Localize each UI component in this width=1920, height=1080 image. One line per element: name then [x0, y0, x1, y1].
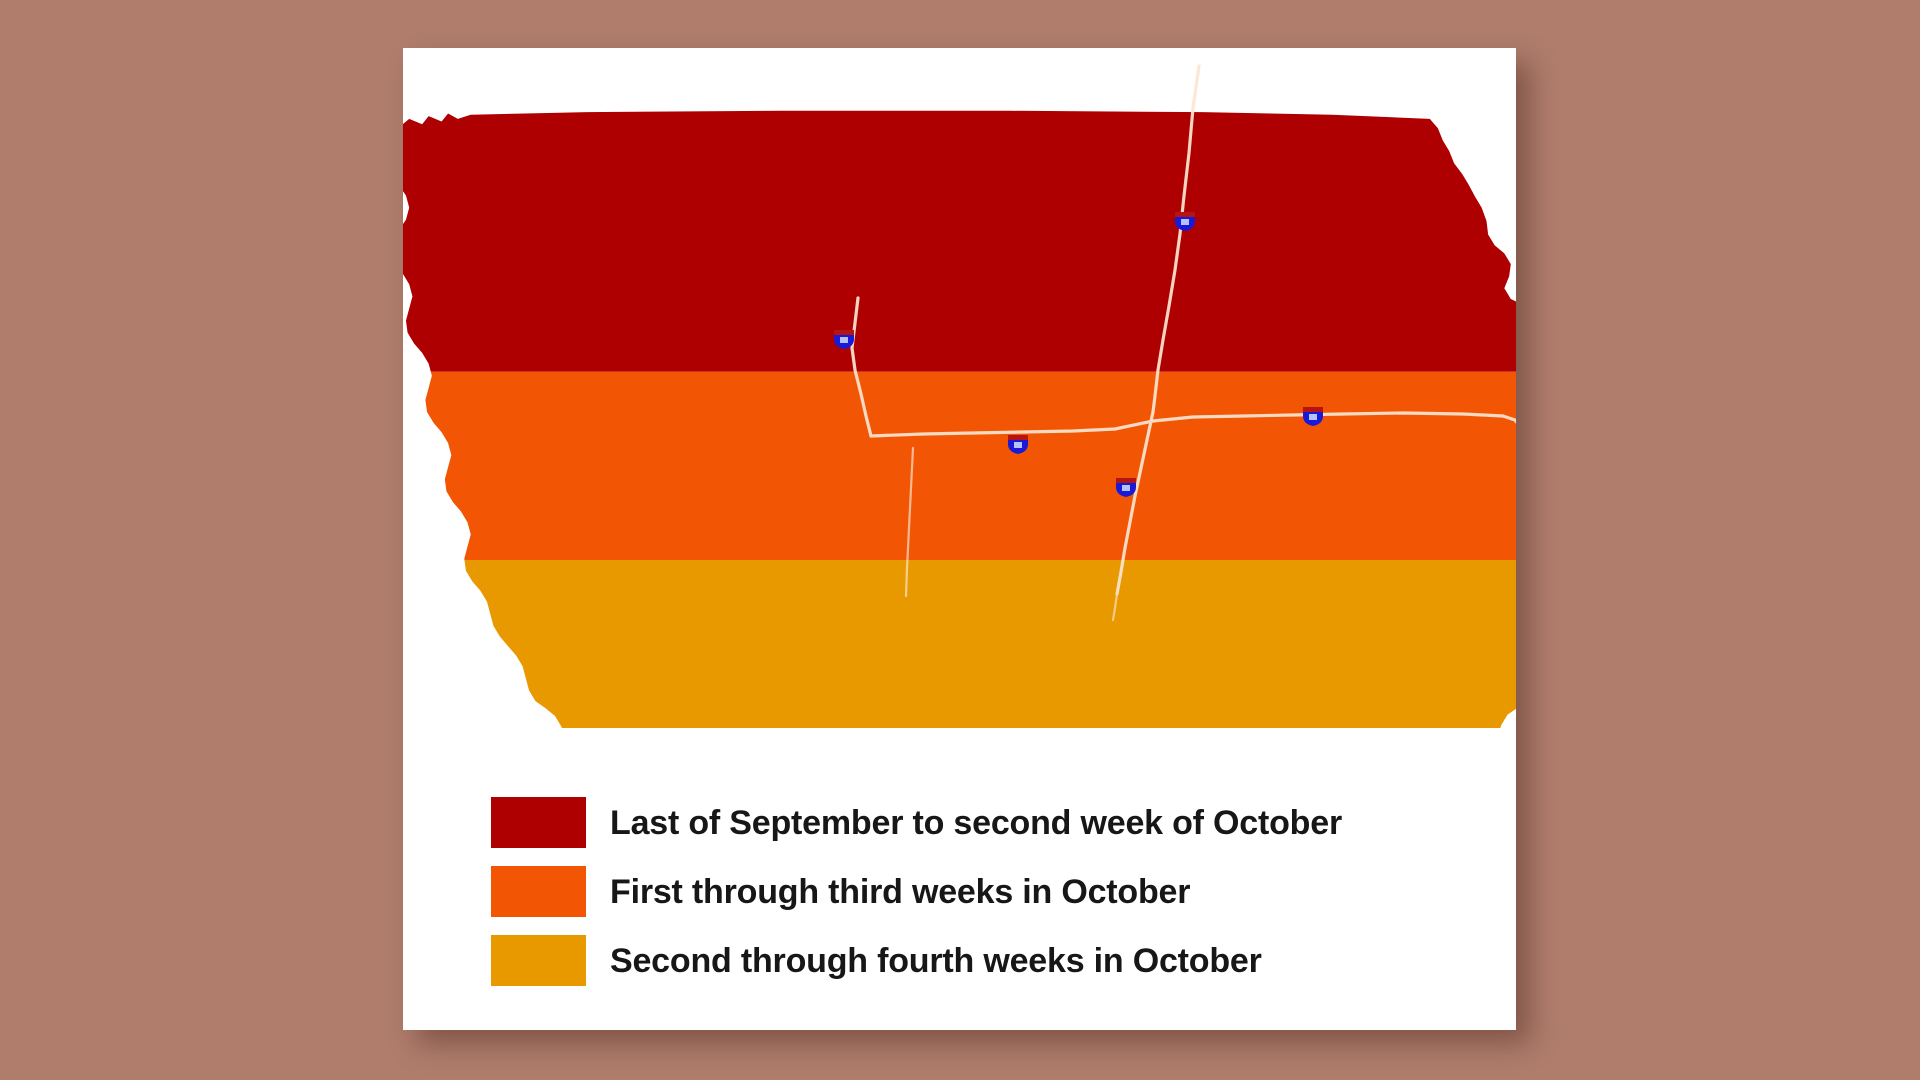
map-legend: Last of September to second week of Octo… [491, 788, 1471, 995]
map-card: Last of September to second week of Octo… [403, 48, 1516, 1030]
legend-label-red: Last of September to second week of Octo… [610, 806, 1342, 840]
legend-swatch-red [491, 797, 586, 848]
legend-item: Second through fourth weeks in October [491, 926, 1471, 995]
legend-label-gold: Second through fourth weeks in October [610, 944, 1262, 978]
legend-item: Last of September to second week of Octo… [491, 788, 1471, 857]
legend-label-orange: First through third weeks in October [610, 875, 1190, 909]
legend-swatch-orange [491, 866, 586, 917]
iowa-map [403, 48, 1516, 728]
legend-swatch-gold [491, 935, 586, 986]
legend-item: First through third weeks in October [491, 857, 1471, 926]
iowa-map-svg [403, 48, 1516, 728]
